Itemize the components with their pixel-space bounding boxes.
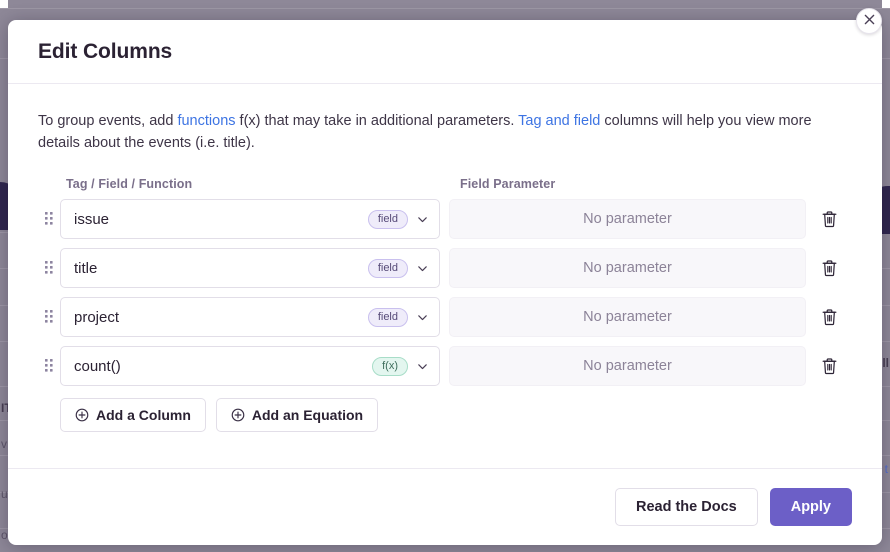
drag-handle-icon[interactable]: [38, 261, 60, 275]
column-header-field-parameter: Field Parameter: [454, 177, 852, 191]
table-row: titlefieldNo parameter: [38, 247, 852, 290]
delete-column-button[interactable]: [806, 357, 852, 375]
table-row: count()f(x)No parameter: [38, 345, 852, 388]
field-parameter-value[interactable]: No parameter: [449, 248, 806, 288]
delete-column-button[interactable]: [806, 259, 852, 277]
plus-circle-icon: [231, 408, 245, 422]
column-select[interactable]: issuefield: [60, 199, 440, 239]
add-an-equation-label: Add an Equation: [252, 407, 363, 423]
modal-description: To group events, add functions f(x) that…: [38, 110, 848, 155]
add-an-equation-button[interactable]: Add an Equation: [216, 398, 378, 432]
description-text-2: f(x) that may take in additional paramet…: [236, 113, 519, 129]
functions-link[interactable]: functions: [177, 113, 235, 129]
table-row: issuefieldNo parameter: [38, 198, 852, 241]
background-divider: [0, 8, 890, 9]
column-select-value: project: [74, 309, 368, 326]
modal-header: Edit Columns: [8, 20, 882, 84]
column-kind-badge: f(x): [372, 357, 408, 376]
description-text-1: To group events, add: [38, 113, 177, 129]
table-row: projectfieldNo parameter: [38, 296, 852, 339]
column-select[interactable]: titlefield: [60, 248, 440, 288]
column-header-tag-field-function: Tag / Field / Function: [60, 177, 454, 191]
close-button[interactable]: [856, 8, 882, 34]
background-partial-text: v: [1, 437, 7, 451]
chevron-down-icon: [413, 262, 431, 275]
read-the-docs-button[interactable]: Read the Docs: [615, 488, 758, 526]
add-a-column-label: Add a Column: [96, 407, 191, 423]
column-select[interactable]: projectfield: [60, 297, 440, 337]
field-parameter-value[interactable]: No parameter: [449, 297, 806, 337]
column-rows-list: issuefieldNo parametertitlefieldNo param…: [38, 198, 852, 388]
delete-column-button[interactable]: [806, 210, 852, 228]
background-partial-text: t: [885, 462, 888, 476]
edit-columns-modal: Edit Columns To group events, add functi…: [8, 20, 882, 545]
column-kind-badge: field: [368, 210, 408, 229]
column-kind-badge: field: [368, 259, 408, 278]
column-kind-badge: field: [368, 308, 408, 327]
delete-column-button[interactable]: [806, 308, 852, 326]
plus-circle-icon: [75, 408, 89, 422]
column-select-value: count(): [74, 358, 372, 375]
field-parameter-value[interactable]: No parameter: [449, 199, 806, 239]
column-select-value: title: [74, 260, 368, 277]
drag-handle-icon[interactable]: [38, 359, 60, 373]
column-select-value: issue: [74, 211, 368, 228]
chevron-down-icon: [413, 311, 431, 324]
column-headers: Tag / Field / Function Field Parameter: [60, 177, 852, 191]
modal-footer: Read the Docs Apply: [8, 468, 882, 545]
add-a-column-button[interactable]: Add a Column: [60, 398, 206, 432]
column-select[interactable]: count()f(x): [60, 346, 440, 386]
drag-handle-icon[interactable]: [38, 212, 60, 226]
chevron-down-icon: [413, 213, 431, 226]
background-partial-text: o: [1, 528, 8, 542]
modal-body: To group events, add functions f(x) that…: [8, 84, 882, 468]
drag-handle-icon[interactable]: [38, 310, 60, 324]
background-white-area: [882, 0, 890, 8]
background-partial-text: u: [1, 487, 8, 501]
tag-and-field-link[interactable]: Tag and field: [518, 113, 600, 129]
close-icon: [864, 12, 875, 30]
field-parameter-value[interactable]: No parameter: [449, 346, 806, 386]
chevron-down-icon: [413, 360, 431, 373]
add-buttons-group: Add a Column Add an Equation: [60, 398, 852, 432]
page-title: Edit Columns: [38, 40, 172, 64]
background-white-area: [0, 0, 8, 8]
apply-button[interactable]: Apply: [770, 488, 852, 526]
